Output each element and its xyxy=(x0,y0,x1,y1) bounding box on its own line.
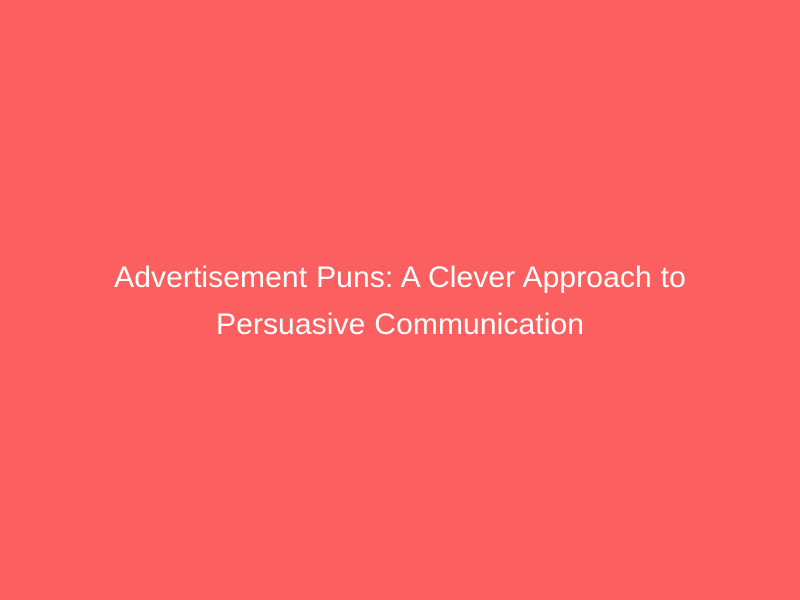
page-title: Advertisement Puns: A Clever Approach to… xyxy=(80,254,720,348)
title-card: Advertisement Puns: A Clever Approach to… xyxy=(0,0,800,600)
title-block: Advertisement Puns: A Clever Approach to… xyxy=(80,254,720,348)
